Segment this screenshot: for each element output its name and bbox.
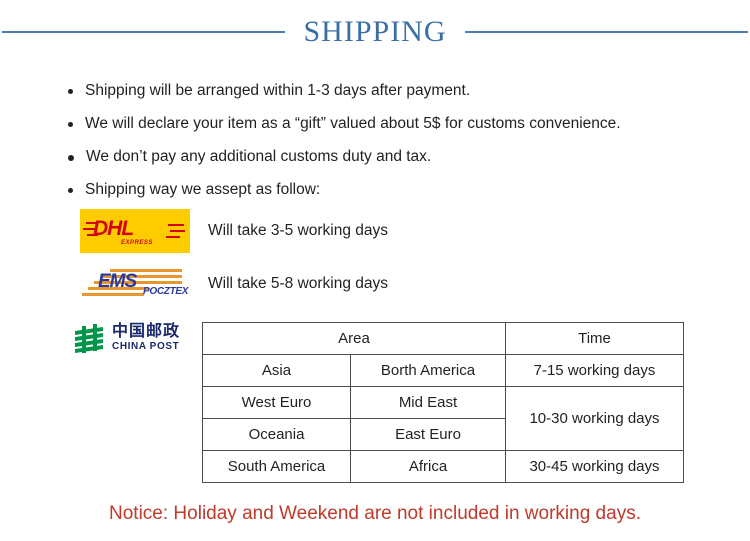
cell-area-primary: Asia <box>203 355 351 387</box>
table-header-row: Area Time <box>203 323 684 355</box>
list-item-text: We will declare your item as a “gift” va… <box>85 113 621 135</box>
cell-area-secondary: East Euro <box>351 419 506 451</box>
dhl-speedline-icon <box>170 230 185 232</box>
china-post-emblem-icon <box>72 324 106 354</box>
cell-area-secondary: Mid East <box>351 387 506 419</box>
dhl-wordmark: DHL <box>93 218 133 239</box>
dhl-delivery-time: Will take 3-5 working days <box>208 222 388 240</box>
list-item: Shipping way we assept as follow: <box>68 179 708 212</box>
cell-area-primary: South America <box>203 451 351 483</box>
list-item: We don’t pay any additional customs duty… <box>68 146 708 179</box>
shipping-terms-list: Shipping will be arranged within 1-3 day… <box>68 80 708 212</box>
carrier-row-ems: EMS POCZTEX Will take 5-8 working days <box>80 266 388 302</box>
shipping-time-table: Area Time Asia Borth America 7-15 workin… <box>202 322 684 483</box>
china-post-wordmark-en: CHINA POST <box>112 341 179 352</box>
column-header-area: Area <box>203 323 506 355</box>
cell-time: 30-45 working days <box>506 451 684 483</box>
cell-area-primary: Oceania <box>203 419 351 451</box>
ems-stripe-icon <box>82 293 144 296</box>
cell-area-secondary: Africa <box>351 451 506 483</box>
carrier-row-china-post: 中国邮政 CHINA POST <box>72 322 192 356</box>
carrier-row-dhl: DHL EXPRESS Will take 3-5 working days <box>80 209 388 253</box>
column-header-time: Time <box>506 323 684 355</box>
dhl-speedline-icon <box>166 236 180 238</box>
header-rule-left <box>2 31 285 33</box>
table-row: Asia Borth America 7-15 working days <box>203 355 684 387</box>
ems-wordmark: EMS <box>98 272 136 291</box>
list-item-text: We don’t pay any additional customs duty… <box>86 146 431 168</box>
cell-area-secondary: Borth America <box>351 355 506 387</box>
page-title: SHIPPING <box>303 15 446 49</box>
page-header: SHIPPING <box>0 12 750 52</box>
cell-time: 10-30 working days <box>506 387 684 451</box>
bullet-icon <box>68 188 73 193</box>
ems-delivery-time: Will take 5-8 working days <box>208 275 388 293</box>
bullet-icon <box>68 89 73 94</box>
china-post-wordmark-cn: 中国邮政 <box>112 322 180 340</box>
cell-time: 7-15 working days <box>506 355 684 387</box>
bullet-icon <box>68 155 74 161</box>
working-days-notice: Notice: Holiday and Weekend are not incl… <box>0 503 750 525</box>
cell-area-primary: West Euro <box>203 387 351 419</box>
dhl-express-label: EXPRESS <box>121 240 153 246</box>
table-row: South America Africa 30-45 working days <box>203 451 684 483</box>
list-item-text: Shipping will be arranged within 1-3 day… <box>85 80 470 102</box>
bullet-icon <box>68 122 73 127</box>
list-item-text: Shipping way we assept as follow: <box>85 179 320 201</box>
china-post-logo-icon: 中国邮政 CHINA POST <box>72 322 192 356</box>
pocztex-label: POCZTEX <box>143 286 188 297</box>
header-rule-right <box>465 31 748 33</box>
list-item: Shipping will be arranged within 1-3 day… <box>68 80 708 113</box>
list-item: We will declare your item as a “gift” va… <box>68 113 708 146</box>
table-row: West Euro Mid East 10-30 working days <box>203 387 684 419</box>
dhl-logo-icon: DHL EXPRESS <box>80 209 190 253</box>
dhl-speedline-icon <box>168 224 184 226</box>
ems-pocztex-logo-icon: EMS POCZTEX <box>80 266 190 302</box>
